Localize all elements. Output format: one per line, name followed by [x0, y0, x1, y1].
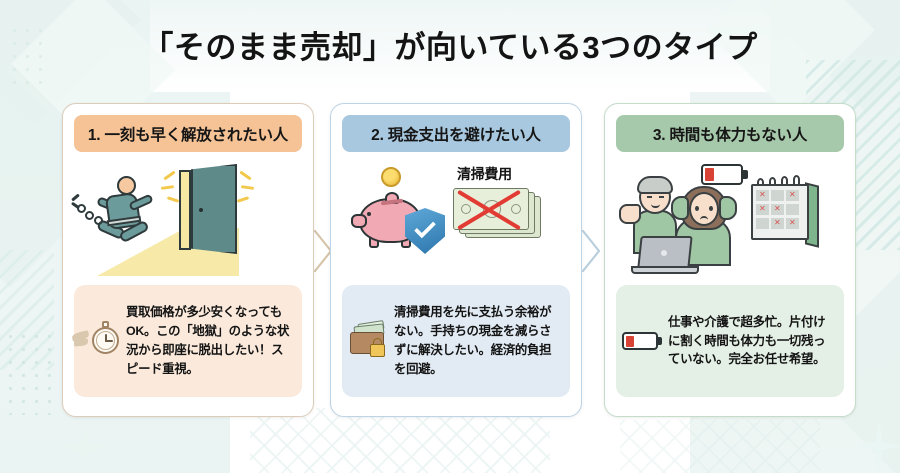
light-ray-shape: [239, 171, 251, 181]
type-card-3[interactable]: 3. 時間も体力もない人: [604, 103, 856, 417]
card-1-body-text: 買取価格が多少安くなってもOK。この「地獄」のような状況から即座に脱出したい！ス…: [126, 303, 294, 378]
background-sparkle: [856, 420, 900, 472]
woman-head-shape: [689, 192, 719, 226]
woman-arm-shape: [671, 196, 689, 220]
laptop-logo-shape: [661, 250, 667, 256]
open-door-icon: [191, 164, 237, 254]
battery-cap-shape: [743, 170, 748, 179]
broken-chain-icon: [71, 193, 80, 201]
calendar-cell: [771, 190, 784, 201]
cleaning-fee-label: 清掃費用: [457, 164, 512, 184]
elderly-hair-shape: [637, 176, 673, 194]
broken-chain-icon: [85, 211, 94, 220]
calendar-x-mark: ✕: [789, 219, 796, 227]
light-ray-shape: [241, 185, 254, 190]
low-battery-icon: [622, 318, 664, 364]
card-2-body-text: 清掃費用を先に支払う余裕がない。手持ちの現金を減らさずに解決したい。経済的負担を…: [394, 303, 562, 378]
background-dots: [4, 330, 56, 415]
woman-eye-shape: [709, 206, 713, 211]
calendar-x-mark: ✕: [759, 191, 766, 199]
runner-head-shape: [117, 176, 136, 195]
elderly-eye-shape: [647, 196, 652, 198]
type-card-2[interactable]: 2. 現金支出を避けたい人 清掃費用: [330, 103, 582, 417]
battery-level-shape: [705, 168, 714, 181]
chevron-right-2-icon: [580, 228, 602, 274]
card-3-body: 仕事や介護で超多忙。片付けに割く時間も体力も一切残っていない。完全お任せ希望。: [616, 285, 844, 397]
door-knob-shape: [199, 208, 203, 212]
broken-chain-icon: [94, 216, 103, 225]
background-chevrons: [250, 408, 550, 473]
card-1-header: 1. 一刻も早く解放されたい人: [74, 115, 302, 152]
background-chevrons: [620, 420, 820, 473]
card-2-header: 2. 現金支出を避けたい人: [342, 115, 570, 152]
elderly-eye-shape: [659, 196, 664, 198]
locked-wallet-icon: [348, 318, 390, 364]
calendar-x-mark: ✕: [774, 205, 781, 213]
piggy-snout-shape: [351, 214, 367, 228]
door-frame-shape: [179, 170, 191, 250]
laptop-base-shape: [631, 266, 699, 274]
infographic-canvas: 「そのまま売却」が向いている3つのタイプ 1. 一刻も早く解放されたい人: [0, 0, 900, 473]
woman-arm-shape: [719, 196, 737, 220]
calendar-x-mark: ✕: [789, 191, 796, 199]
background-stripes: [0, 250, 54, 370]
card-3-header: 3. 時間も体力もない人: [616, 115, 844, 152]
card-2-illustration: 清掃費用: [331, 152, 581, 285]
type-card-1[interactable]: 1. 一刻も早く解放されたい人: [62, 103, 314, 417]
light-ray-shape: [161, 185, 174, 190]
elderly-hand-shape: [619, 204, 641, 224]
page-title: 「そのまま売却」が向いている3つのタイプ: [0, 22, 900, 67]
calendar-cell: [756, 218, 769, 229]
card-1-body: 買取価格が多少安くなってもOK。この「地獄」のような状況から即座に脱出したい！ス…: [74, 285, 302, 397]
calendar-x-mark: ✕: [774, 219, 781, 227]
light-ray-shape: [237, 196, 249, 203]
card-3-illustration: ✕ ✕ ✕ ✕ ✕ ✕: [605, 152, 855, 285]
broken-chain-icon: [71, 202, 80, 210]
card-1-illustration: [63, 152, 313, 285]
calendar-cell: [786, 204, 799, 215]
woman-eye-shape: [695, 206, 699, 211]
card-3-body-text: 仕事や介護で超多忙。片付けに割く時間も体力も一切残っていない。完全お任せ希望。: [668, 313, 836, 370]
banknote-detail: [461, 204, 471, 214]
background-sparkle: [60, 420, 110, 473]
calendar-x-mark: ✕: [759, 205, 766, 213]
gold-coin-icon: [381, 167, 401, 187]
card-2-body: 清掃費用を先に支払う余裕がない。手持ちの現金を減らさずに解決したい。経済的負担を…: [342, 285, 570, 397]
winged-stopwatch-icon: [80, 318, 122, 364]
light-ray-shape: [163, 171, 175, 181]
banknote-detail: [511, 204, 521, 214]
calendar-ring-shape: [793, 175, 800, 184]
light-ray-shape: [167, 196, 179, 203]
piggy-eye-shape: [367, 212, 371, 216]
woman-mouth-shape: [700, 216, 708, 220]
